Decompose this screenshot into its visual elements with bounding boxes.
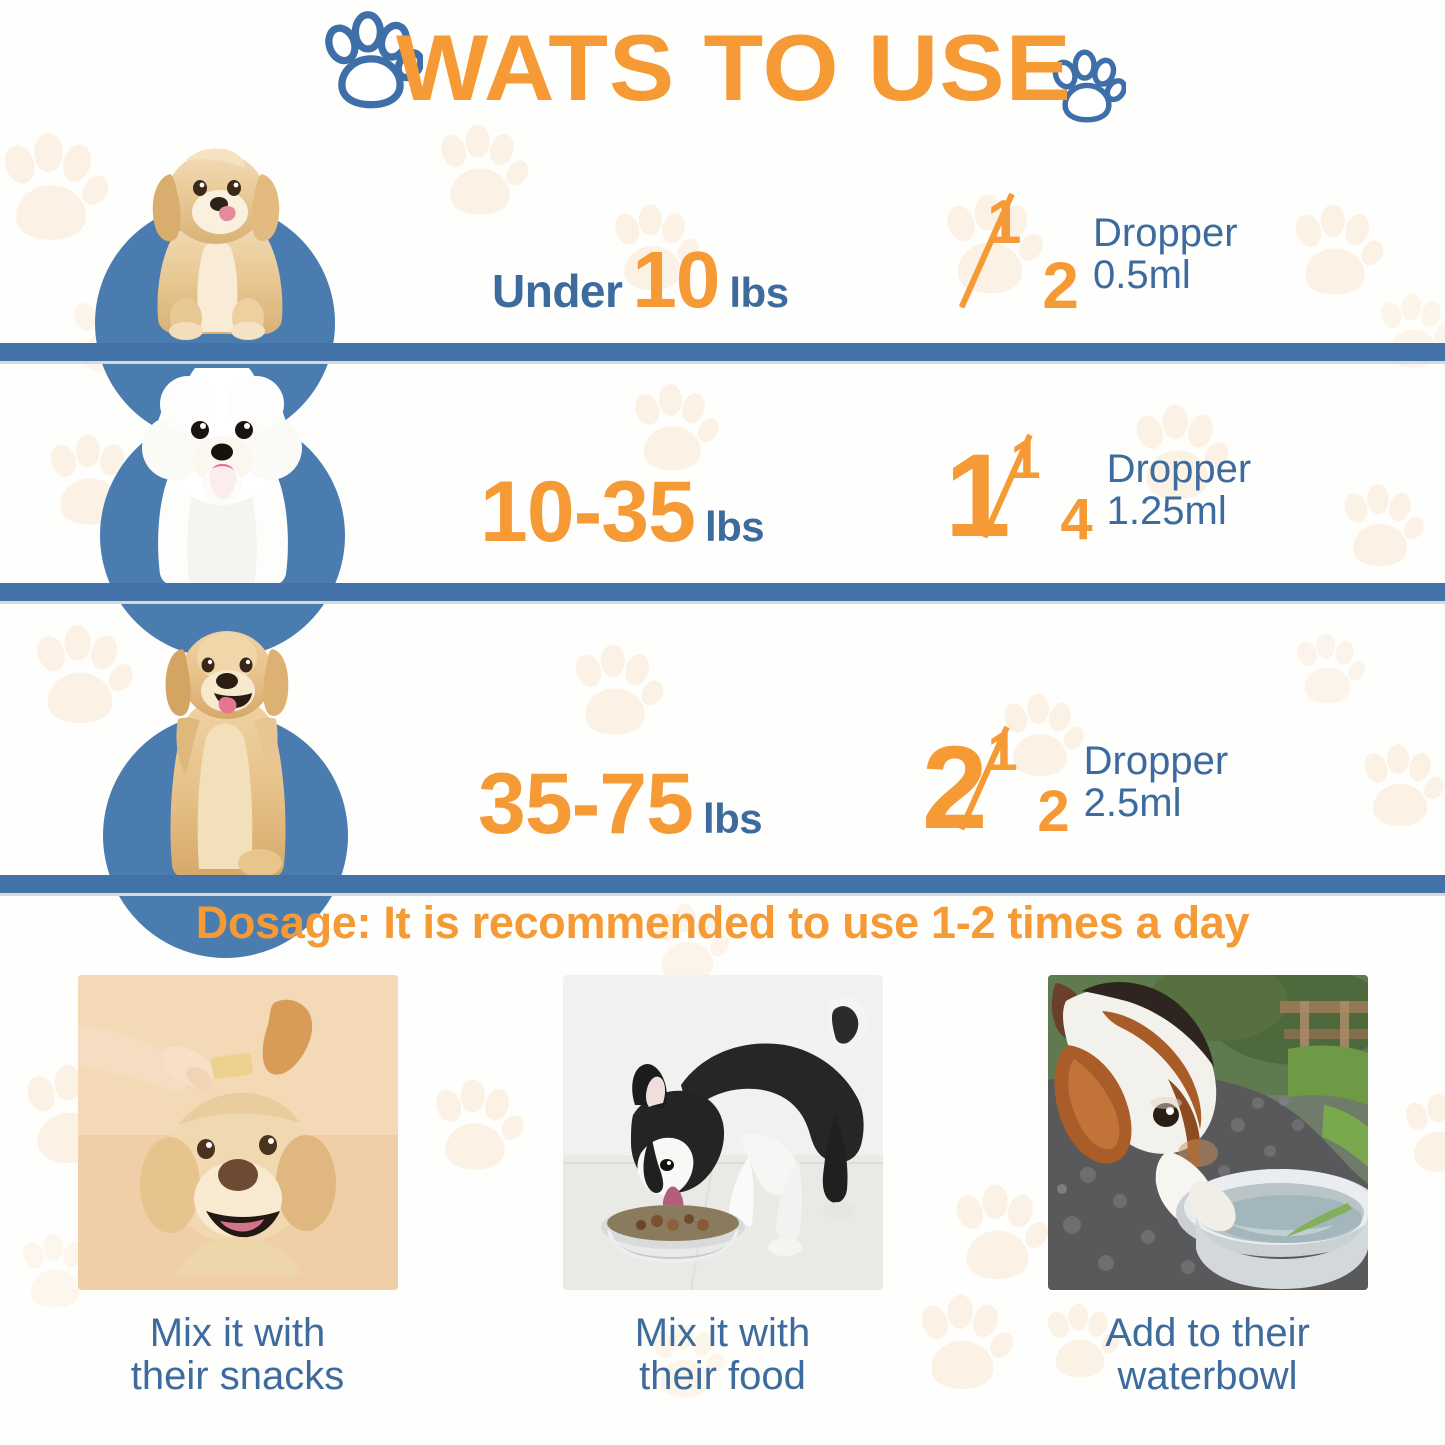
usage-method-cards: Mix it with their snacks xyxy=(0,975,1445,1398)
usage-caption-waterbowl: Add to their waterbowl xyxy=(1048,1312,1368,1398)
weight-unit: lbs xyxy=(705,503,764,551)
weight-value: 10-35 xyxy=(480,463,695,562)
dose-ml: 0.5ml xyxy=(1093,254,1238,296)
weight-value: 10 xyxy=(632,234,719,326)
usage-caption-snacks: Mix it with their snacks xyxy=(78,1312,398,1398)
weight-unit: lbs xyxy=(703,795,762,843)
photo-husky-eating-food xyxy=(563,975,883,1290)
dosage-row-3: 35-75 lbs 2 1 2 Dropper 2.5ml xyxy=(0,603,1445,875)
fraction-denominator: 2 xyxy=(1037,783,1069,841)
dose-ml: 1.25ml xyxy=(1107,490,1252,532)
usage-caption-food: Mix it with their food xyxy=(563,1312,883,1398)
fraction-one-and-one-quarter: 1 1 4 xyxy=(945,431,1095,549)
dose-label: Dropper xyxy=(1093,211,1238,255)
dose-label-block: Dropper 1.25ml xyxy=(1107,448,1252,533)
photo-beagle-drinking-water xyxy=(1048,975,1368,1290)
dosage-row-1: Under 10 lbs 1 2 Dropper 0.5ml xyxy=(0,128,1445,343)
dose-amount-1: 1 2 Dropper 0.5ml xyxy=(985,190,1238,318)
fraction-denominator: 2 xyxy=(1042,252,1079,318)
caption-line-2: their food xyxy=(563,1355,883,1398)
weight-range-2: 10-35 lbs xyxy=(480,463,764,562)
dose-amount-3: 2 1 2 Dropper 2.5ml xyxy=(922,723,1228,841)
page-title: WATS TO USE xyxy=(396,21,1072,115)
dose-ml: 2.5ml xyxy=(1084,782,1229,824)
page-title-bar: WATS TO USE xyxy=(0,8,1445,128)
dosage-row-2: 10-35 lbs 1 1 4 Dropper 1.25ml xyxy=(0,363,1445,583)
dose-label-block: Dropper 0.5ml xyxy=(1093,212,1238,297)
dosage-note: Dosage: It is recommended to use 1-2 tim… xyxy=(0,897,1445,949)
weight-range-3: 35-75 lbs xyxy=(478,755,762,854)
usage-card-snacks: Mix it with their snacks xyxy=(78,975,398,1398)
fraction-one-half: 1 2 xyxy=(985,190,1081,318)
dog-photo-1 xyxy=(112,146,317,346)
row-separator-2 xyxy=(0,583,1445,601)
weight-range-1: Under 10 lbs xyxy=(492,234,789,326)
fraction-two-and-one-half: 2 1 2 xyxy=(922,723,1072,841)
caption-line-1: Mix it with xyxy=(635,1311,811,1355)
dog-photo-3 xyxy=(120,613,335,878)
dose-label: Dropper xyxy=(1084,739,1229,783)
weight-value: 35-75 xyxy=(478,755,693,854)
infographic-page: WATS TO USE xyxy=(0,0,1445,1445)
row-separator-3 xyxy=(0,875,1445,893)
dog-photo-2 xyxy=(112,368,332,583)
caption-line-1: Add to their xyxy=(1105,1311,1310,1355)
caption-line-1: Mix it with xyxy=(150,1311,326,1355)
photo-treat-golden-retriever xyxy=(78,975,398,1290)
weight-prefix: Under xyxy=(492,264,622,318)
caption-line-2: their snacks xyxy=(78,1355,398,1398)
usage-card-waterbowl: Add to their waterbowl xyxy=(1048,975,1368,1398)
fraction-denominator: 4 xyxy=(1060,491,1092,549)
row-separator-1 xyxy=(0,343,1445,361)
weight-unit: lbs xyxy=(729,269,788,317)
usage-card-food: Mix it with their food xyxy=(563,975,883,1398)
dose-label-block: Dropper 2.5ml xyxy=(1084,740,1229,825)
dose-amount-2: 1 1 4 Dropper 1.25ml xyxy=(945,431,1251,549)
dose-label: Dropper xyxy=(1107,447,1252,491)
caption-line-2: waterbowl xyxy=(1048,1355,1368,1398)
